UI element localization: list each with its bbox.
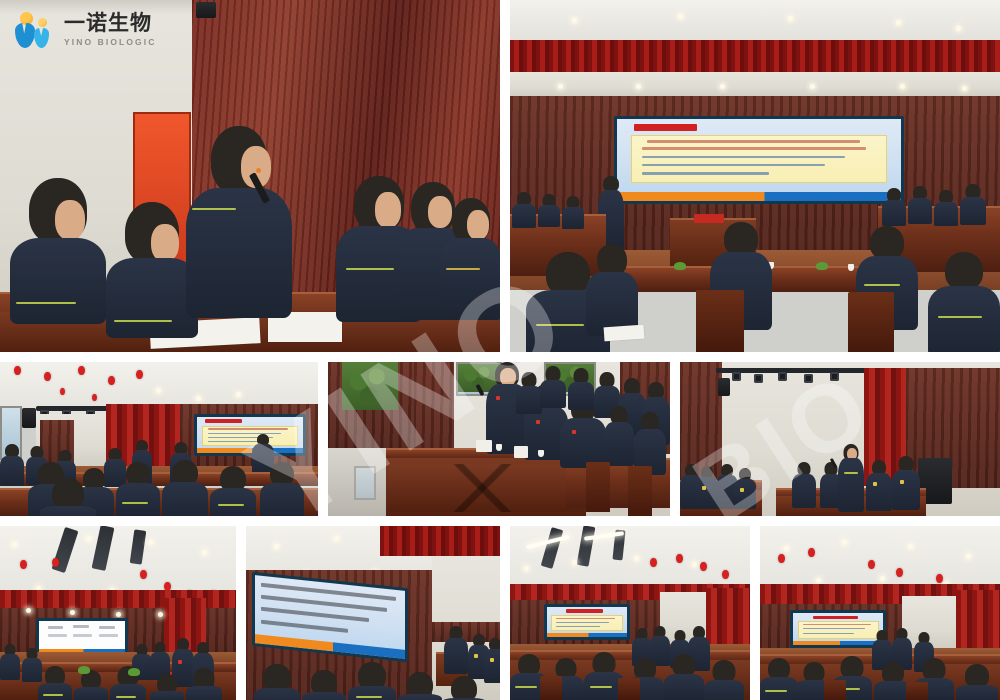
gallery-photo-1[interactable] [0, 0, 500, 352]
photo-7-scene [246, 526, 500, 700]
slide-title-block [634, 124, 696, 131]
projection-screen [614, 116, 904, 204]
company-logo[interactable]: 一诺生物 YINO BIOLOGIC [14, 12, 156, 48]
logo-wordmark: 一诺生物 YINO BIOLOGIC [64, 13, 156, 47]
photo-6-scene [0, 526, 236, 700]
photo-8-scene [510, 526, 750, 700]
logo-name-cn: 一诺生物 [64, 13, 156, 34]
photo-2-scene [510, 0, 1000, 352]
photo-4-scene [328, 362, 670, 516]
photo-9-scene [760, 526, 1000, 700]
gallery-photo-8[interactable] [510, 526, 750, 700]
gallery-photo-2[interactable] [510, 0, 1000, 352]
photo-5-scene [680, 362, 1000, 516]
two-people-figure-icon [14, 12, 56, 48]
gallery-photo-6[interactable] [0, 526, 236, 700]
gallery-photo-9[interactable] [760, 526, 1000, 700]
photo-3-scene [0, 362, 318, 516]
collage-page: YINO BIO 一诺生物 YINO BIOLOGIC [0, 0, 1000, 700]
gallery-photo-3[interactable] [0, 362, 318, 516]
slide-body-block [631, 135, 887, 183]
gallery-photo-4[interactable] [328, 362, 670, 516]
gallery-photo-5[interactable] [680, 362, 1000, 516]
photo-1-scene [0, 0, 500, 352]
logo-name-en: YINO BIOLOGIC [64, 38, 156, 47]
gallery-photo-7[interactable] [246, 526, 500, 700]
